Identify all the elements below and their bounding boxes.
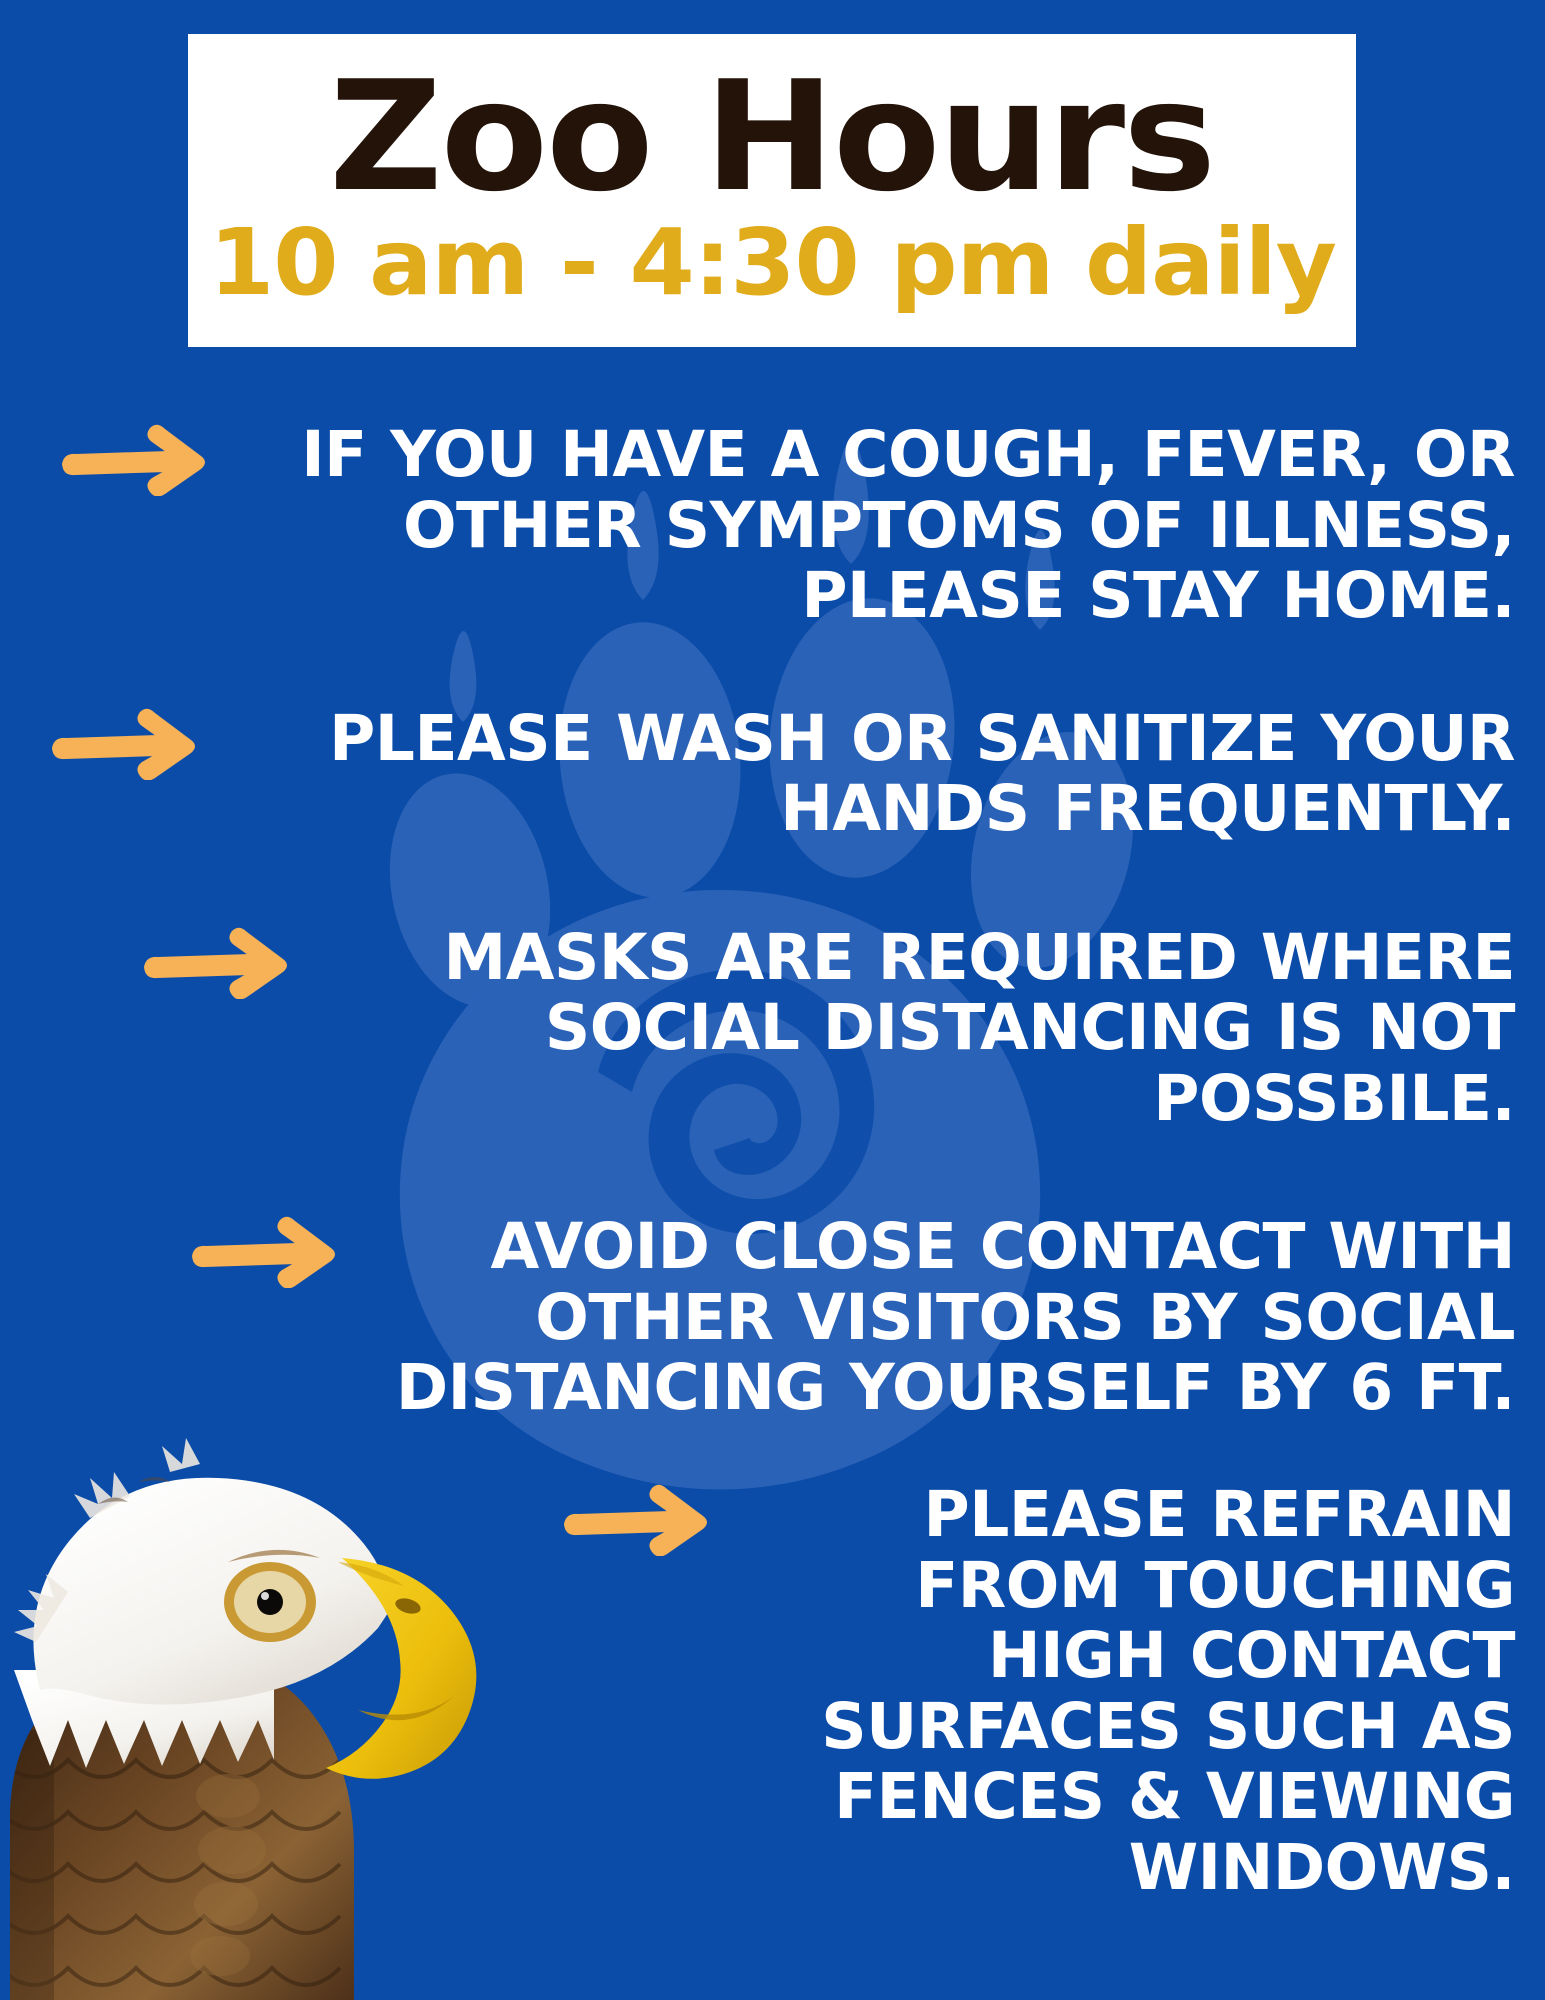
list-item: Avoid close contact with other visitors … — [0, 1212, 1545, 1424]
list-item: Please wash or sanitize your hands frequ… — [0, 704, 1545, 845]
poster-canvas: Zoo Hours 10 am - 4:30 pm daily If you h… — [0, 0, 1545, 2000]
list-item-label: Please refrain from touching high contac… — [40, 1480, 1515, 1903]
arrow-right-icon — [188, 1216, 338, 1288]
arrow-right-icon — [140, 927, 290, 999]
header-card: Zoo Hours 10 am - 4:30 pm daily — [188, 34, 1356, 347]
list-item: If you have a cough, fever, or other sym… — [0, 420, 1545, 632]
list-item-label: Please wash or sanitize your hands frequ… — [40, 704, 1515, 845]
arrow-right-icon — [560, 1484, 710, 1556]
list-item-label: If you have a cough, fever, or other sym… — [40, 420, 1515, 632]
list-item: Please refrain from touching high contac… — [0, 1480, 1545, 1903]
page-title: Zoo Hours — [329, 61, 1214, 213]
hours-subtitle: 10 am - 4:30 pm daily — [209, 217, 1336, 309]
list-item: Masks are required where social distanci… — [0, 923, 1545, 1135]
arrow-right-icon — [48, 708, 198, 780]
guidelines-list: If you have a cough, fever, or other sym… — [0, 420, 1545, 1903]
arrow-right-icon — [58, 424, 208, 496]
